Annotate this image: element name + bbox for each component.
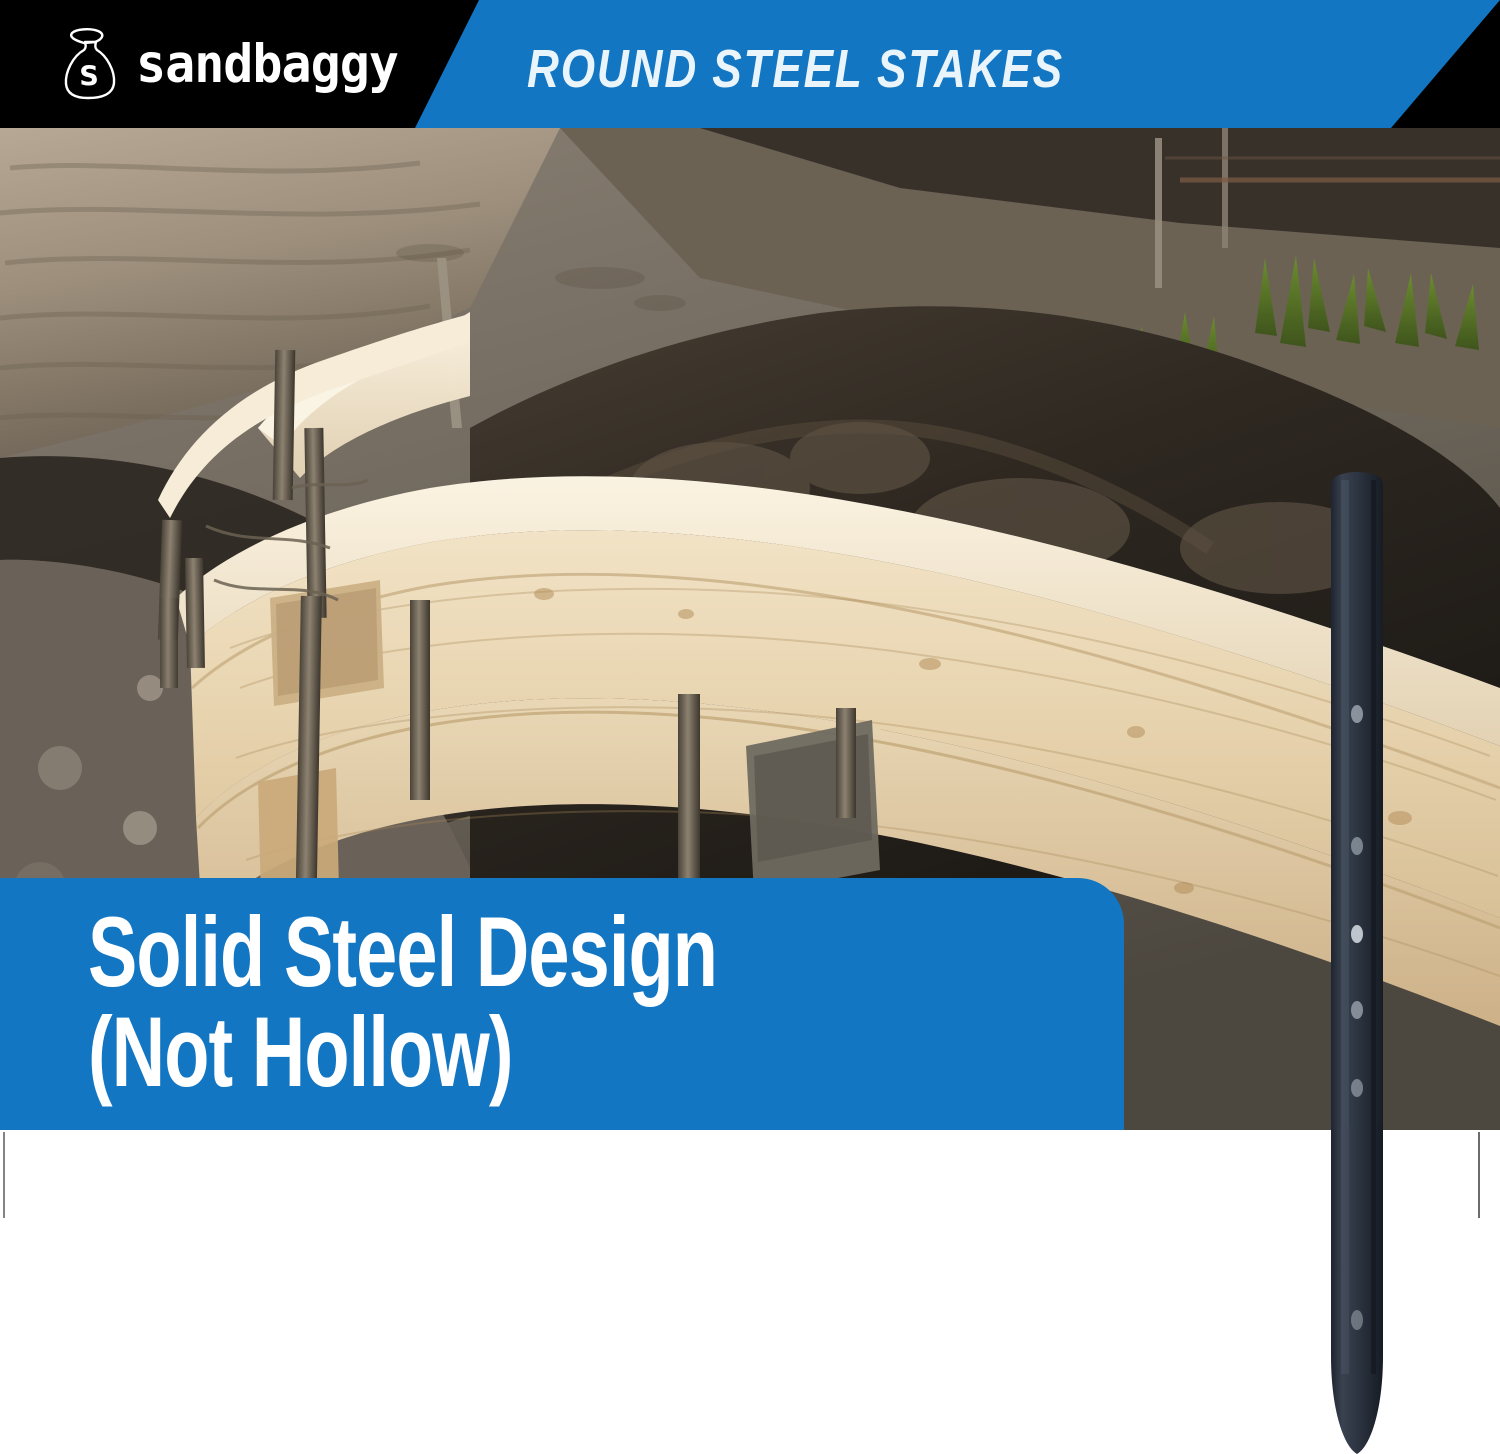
- left-edge-rule: [3, 1132, 5, 1218]
- headline-text: Solid Steel Design(Not Hollow): [88, 902, 968, 1102]
- headline-line-1: Solid Steel Design: [88, 896, 717, 1007]
- brand-name: sandbaggy: [136, 38, 398, 91]
- headline-banner: Solid Steel Design(Not Hollow): [0, 878, 1124, 1130]
- brand-logo[interactable]: s sandbaggy: [60, 26, 398, 102]
- page-header: s sandbaggy ROUND STEEL STAKES: [0, 0, 1500, 128]
- description-panel: [0, 1130, 1500, 1454]
- svg-text:s: s: [78, 53, 100, 94]
- header-title: ROUND STEEL STAKES: [527, 39, 1064, 101]
- right-edge-rule: [1478, 1132, 1480, 1218]
- headline-line-2: (Not Hollow): [88, 996, 513, 1107]
- sandbag-logo-icon: s: [60, 27, 122, 101]
